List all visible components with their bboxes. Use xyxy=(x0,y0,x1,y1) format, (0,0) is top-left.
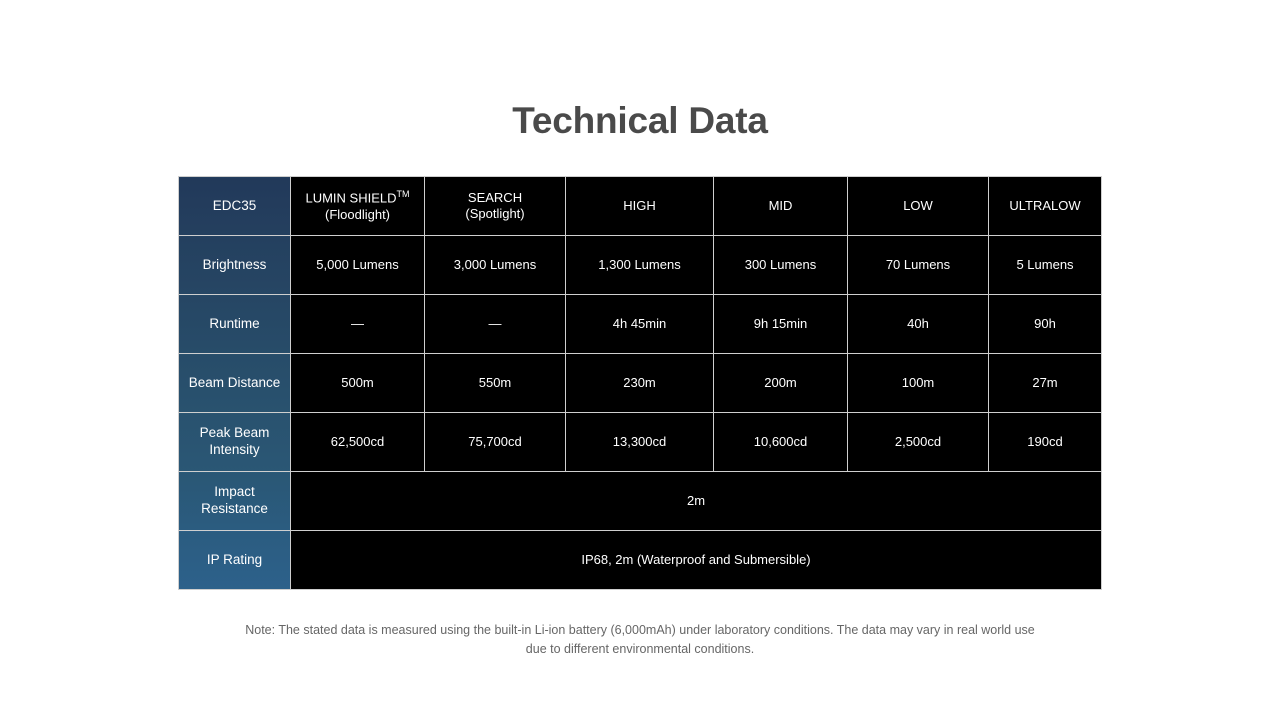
cell-beam-distance-low: 100m xyxy=(848,354,989,413)
table-row: Impact Resistance 2m xyxy=(179,472,1102,531)
row-label-brightness: Brightness xyxy=(179,236,291,295)
cell-runtime-search: — xyxy=(425,295,566,354)
footnote: Note: The stated data is measured using … xyxy=(240,621,1040,660)
row-label-runtime: Runtime xyxy=(179,295,291,354)
table-row: Runtime — — 4h 45min 9h 15min 40h 90h xyxy=(179,295,1102,354)
page-title: Technical Data xyxy=(0,100,1280,142)
cell-runtime-low: 40h xyxy=(848,295,989,354)
trademark-icon: TM xyxy=(397,189,410,199)
row-label-line-2: Intensity xyxy=(183,442,286,459)
table-row: Brightness 5,000 Lumens 3,000 Lumens 1,3… xyxy=(179,236,1102,295)
cell-brightness-high: 1,300 Lumens xyxy=(566,236,714,295)
header-mode-low: LOW xyxy=(848,177,989,236)
cell-impact-resistance-value: 2m xyxy=(291,472,1102,531)
cell-ip-rating-value: IP68, 2m (Waterproof and Submersible) xyxy=(291,531,1102,590)
cell-peak-beam-intensity-low: 2,500cd xyxy=(848,413,989,472)
cell-beam-distance-mid: 200m xyxy=(714,354,848,413)
table-row: IP Rating IP68, 2m (Waterproof and Subme… xyxy=(179,531,1102,590)
cell-brightness-low: 70 Lumens xyxy=(848,236,989,295)
cell-runtime-high: 4h 45min xyxy=(566,295,714,354)
row-label-line-1: Impact xyxy=(214,484,255,499)
cell-beam-distance-ultralow: 27m xyxy=(989,354,1102,413)
row-label-ip-rating: IP Rating xyxy=(179,531,291,590)
cell-brightness-ultralow: 5 Lumens xyxy=(989,236,1102,295)
header-mode-subtitle: (Spotlight) xyxy=(429,206,561,222)
cell-brightness-search: 3,000 Lumens xyxy=(425,236,566,295)
cell-peak-beam-intensity-mid: 10,600cd xyxy=(714,413,848,472)
row-label-line-1: Peak Beam xyxy=(200,425,270,440)
cell-runtime-ultralow: 90h xyxy=(989,295,1102,354)
cell-beam-distance-high: 230m xyxy=(566,354,714,413)
table-row: Peak Beam Intensity 62,500cd 75,700cd 13… xyxy=(179,413,1102,472)
cell-beam-distance-search: 550m xyxy=(425,354,566,413)
header-mode-ultralow: ULTRALOW xyxy=(989,177,1102,236)
header-mode-name: LUMIN SHIELD xyxy=(305,190,396,205)
cell-brightness-lumin-shield: 5,000 Lumens xyxy=(291,236,425,295)
technical-data-table: EDC35 LUMIN SHIELDTM (Floodlight) SEARCH… xyxy=(178,176,1102,590)
header-mode-subtitle: (Floodlight) xyxy=(295,207,420,223)
cell-runtime-mid: 9h 15min xyxy=(714,295,848,354)
cell-peak-beam-intensity-lumin-shield: 62,500cd xyxy=(291,413,425,472)
cell-peak-beam-intensity-ultralow: 190cd xyxy=(989,413,1102,472)
cell-beam-distance-lumin-shield: 500m xyxy=(291,354,425,413)
cell-peak-beam-intensity-search: 75,700cd xyxy=(425,413,566,472)
header-product-name: EDC35 xyxy=(179,177,291,236)
cell-peak-beam-intensity-high: 13,300cd xyxy=(566,413,714,472)
cell-runtime-lumin-shield: — xyxy=(291,295,425,354)
row-label-beam-distance: Beam Distance xyxy=(179,354,291,413)
header-mode-lumin-shield: LUMIN SHIELDTM (Floodlight) xyxy=(291,177,425,236)
header-mode-high: HIGH xyxy=(566,177,714,236)
table-header-row: EDC35 LUMIN SHIELDTM (Floodlight) SEARCH… xyxy=(179,177,1102,236)
slide-root: Technical Data EDC35 LUMIN SHIELDTM (Flo… xyxy=(0,0,1280,720)
header-mode-name: SEARCH xyxy=(468,190,522,205)
row-label-peak-beam-intensity: Peak Beam Intensity xyxy=(179,413,291,472)
table-row: Beam Distance 500m 550m 230m 200m 100m 2… xyxy=(179,354,1102,413)
header-mode-mid: MID xyxy=(714,177,848,236)
header-mode-search: SEARCH (Spotlight) xyxy=(425,177,566,236)
row-label-line-2: Resistance xyxy=(183,501,286,518)
row-label-impact-resistance: Impact Resistance xyxy=(179,472,291,531)
cell-brightness-mid: 300 Lumens xyxy=(714,236,848,295)
